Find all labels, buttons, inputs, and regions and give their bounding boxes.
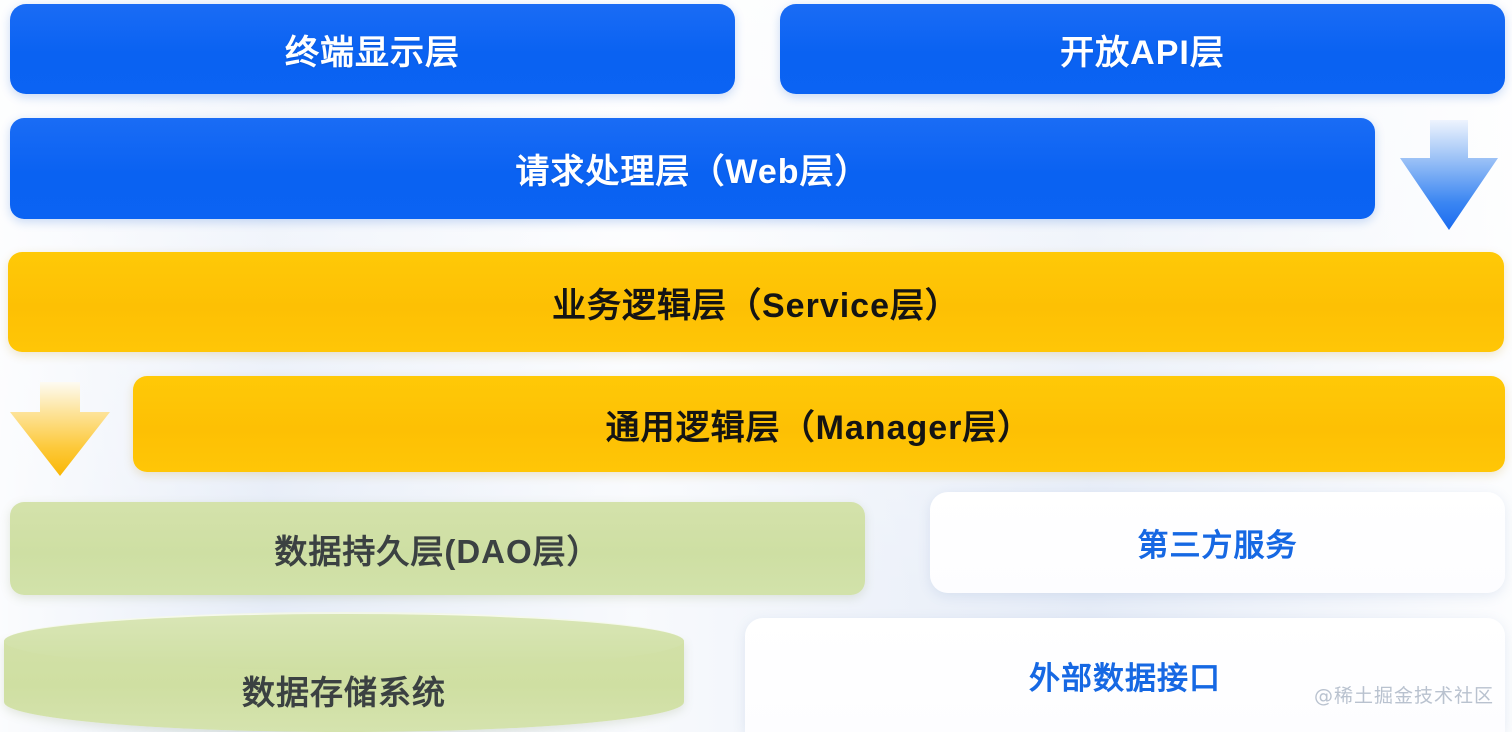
arrow-down-yellow-icon bbox=[4, 382, 116, 478]
layer-data-persistence-dao: 数据持久层(DAO层） bbox=[10, 502, 865, 595]
layer-open-api: 开放API层 bbox=[780, 4, 1505, 94]
layer-open-api-label: 开放API层 bbox=[1060, 25, 1225, 74]
arrow-down-blue-icon bbox=[1394, 120, 1504, 232]
layer-business-logic-service: 业务逻辑层（Service层） bbox=[8, 252, 1504, 352]
layer-request-handling-web-label: 请求处理层（Web层） bbox=[515, 144, 869, 193]
layer-third-party-service-label: 第三方服务 bbox=[1138, 520, 1298, 565]
layer-request-handling-web: 请求处理层（Web层） bbox=[10, 118, 1375, 219]
layer-external-data-interface: 外部数据接口 bbox=[745, 618, 1505, 732]
layer-business-logic-service-label: 业务逻辑层（Service层） bbox=[552, 278, 960, 327]
layer-common-logic-manager-label: 通用逻辑层（Manager层） bbox=[606, 400, 1033, 449]
layer-third-party-service: 第三方服务 bbox=[930, 492, 1505, 593]
layer-data-storage-system: 数据存储系统 bbox=[4, 612, 684, 732]
watermark: @稀土掘金技术社区 bbox=[1314, 681, 1494, 708]
architecture-diagram: 终端显示层 开放API层 请求处理层（Web层） 业务逻辑层（Service层） bbox=[0, 0, 1512, 732]
layer-terminal-display: 终端显示层 bbox=[10, 4, 735, 94]
layer-terminal-display-label: 终端显示层 bbox=[285, 25, 460, 74]
layer-data-storage-system-label: 数据存储系统 bbox=[4, 648, 684, 732]
layer-common-logic-manager: 通用逻辑层（Manager层） bbox=[133, 376, 1505, 472]
layer-external-data-interface-label: 外部数据接口 bbox=[1029, 653, 1221, 698]
layer-data-persistence-dao-label: 数据持久层(DAO层） bbox=[274, 525, 600, 573]
